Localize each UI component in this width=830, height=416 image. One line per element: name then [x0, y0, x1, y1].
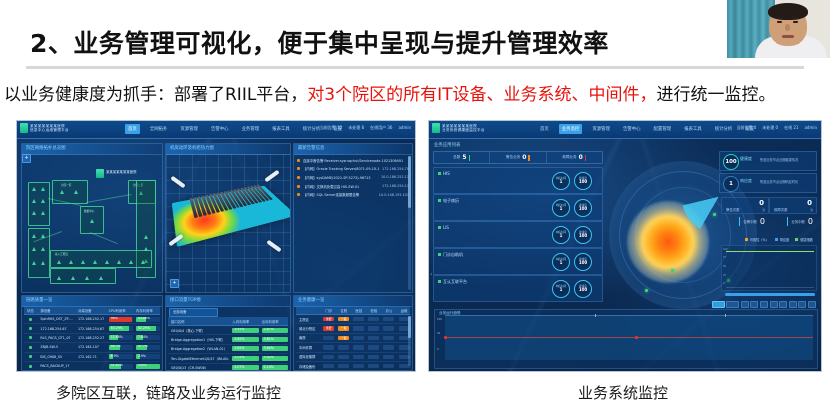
- col-lab: 检验: [365, 308, 380, 313]
- user-account[interactable]: admin: [398, 125, 411, 131]
- device-icon: [117, 260, 121, 264]
- heatmap-zoom-button[interactable]: +: [170, 279, 179, 288]
- cpu-value: 46.3%: [111, 345, 121, 349]
- legend-swatch: [745, 238, 748, 241]
- kpi-label: 告警中断: [743, 219, 757, 224]
- status-pill: [323, 345, 334, 349]
- kpi-value: 0: [760, 217, 765, 226]
- nav-item-analytics[interactable]: 统计分析: [712, 124, 736, 134]
- alarm-severity-icon: [297, 159, 300, 162]
- gauge-value: 1: [560, 288, 563, 292]
- table-row[interactable]: Ten-GigabitEthernet1/0/47（WLAN-05） 2.03%…: [168, 354, 288, 363]
- inbound-bar: 2.82%: [232, 346, 258, 351]
- fault-count-unit: 次: [810, 208, 813, 212]
- nav-item-home[interactable]: 首页: [537, 124, 552, 134]
- alarm-ip: 10.0.148.193.101: [379, 193, 409, 197]
- nav-item-resources[interactable]: 资源管理: [177, 124, 201, 134]
- table-row[interactable]: 存储及备份: [296, 362, 410, 371]
- presenter-webcam-overlay: [727, 0, 830, 58]
- device-icon: [41, 247, 45, 251]
- network-topology-diagram[interactable]: 某某某某某某某医院 分院一区: [22, 154, 162, 292]
- y-tick: 75: [723, 256, 726, 259]
- list-item[interactable]: 【内网】SQL Server连接数超限告警 10.0.148.193.101: [297, 190, 409, 199]
- cell-iface: GE0/0/13（CR-SW06）: [168, 365, 229, 370]
- fault-count-label: 故障次数: [774, 207, 788, 212]
- in-value: 2.62%: [234, 337, 244, 341]
- list-item[interactable]: HIS 响应时间 1 健康度 100: [433, 167, 603, 194]
- table-icon[interactable]: [760, 301, 768, 308]
- alarm-severity-icon: [297, 193, 300, 196]
- mem-usage-bar: 47.7%: [136, 345, 160, 350]
- topology-node-label: 分院一区: [61, 183, 71, 187]
- summary-chips[interactable]: 总数 5 警告业务 0 故障业务 0: [433, 151, 603, 164]
- business-trend-chart[interactable]: 业务运行趋势 100 50 0: [434, 309, 818, 369]
- nav-item-alarms[interactable]: 告警中心: [208, 124, 232, 134]
- series-line-response: [445, 337, 813, 338]
- y-tick: 0: [723, 282, 725, 285]
- table-row[interactable]: GE0/0/13（CR-SW06） 2.07% 2.14%: [168, 364, 288, 371]
- bar-chart-icon[interactable]: [726, 301, 739, 308]
- table-row[interactable]: RLS_PACS_GT1_07 172.168.252.27 12.68% 7.…: [24, 334, 160, 343]
- alarm-interrupt-kpi[interactable]: 告警中断 0: [739, 217, 765, 226]
- mem-usage-bar: 7.84%: [136, 335, 160, 340]
- device-icon: [74, 190, 78, 194]
- status-badge: [29, 355, 32, 358]
- device-icon: [32, 187, 36, 191]
- chip-total-label: 总数: [453, 155, 460, 160]
- table-row[interactable]: GE0/0/4（核心-下联） 3.93% 2.87%: [168, 326, 288, 335]
- alarm-text: 【内网】SQL Server连接数超限告警: [303, 192, 376, 197]
- device-icon: [32, 261, 36, 265]
- chip-warning-label: 警告业务: [506, 155, 520, 160]
- data-point[interactable]: [444, 336, 447, 339]
- table-row[interactable]: 172.168.254.67 172.168.254.67 83.29% 82.…: [24, 324, 160, 333]
- in-value: 2.82%: [234, 346, 244, 350]
- device-icon: [144, 235, 148, 239]
- gauge-value: 100: [579, 261, 587, 265]
- nav-item-business[interactable]: 业务管理: [239, 124, 263, 134]
- list-item[interactable]: 电子病历 响应时间 1 健康度 100: [433, 194, 603, 221]
- device-icon: [105, 260, 109, 264]
- link-quality-panel[interactable]: 链路质量一览 状态 源设备 对端设备 CPU利用率 内存利用率 SpinRHS_…: [21, 295, 163, 371]
- status-pill: [323, 364, 334, 368]
- matrix-scrollbar[interactable]: [408, 316, 411, 366]
- nav-item-reports[interactable]: 报表工具: [269, 124, 293, 134]
- health-gauge[interactable]: 健康度 100: [574, 280, 592, 298]
- device-icon: [32, 211, 36, 215]
- chart-toolbar[interactable]: [712, 301, 816, 308]
- table-row[interactable]: ZNJB-SW-5 172.164.107 46.3% 47.7%: [24, 343, 160, 352]
- right-dashboard-screenshot[interactable]: 某某某某某某某医院业务系统健康度监控平台 首页 业务监控 资源管理 告警中心 配…: [428, 120, 822, 372]
- status-pill: 一般: [338, 336, 349, 340]
- line-chart-icon[interactable]: [741, 301, 749, 308]
- status-pill: [338, 345, 349, 349]
- status-current-alarms: 当前告警 12: [320, 125, 342, 131]
- legend-swatch: [795, 238, 798, 241]
- list-item[interactable]: 互认互联平台 响应时间 1 健康度 100: [433, 275, 603, 302]
- list-item[interactable]: 连接中断告警 Receiver.sysruqchui/Servicenode-1…: [297, 156, 409, 165]
- radar-node-dot[interactable]: [645, 289, 648, 292]
- topology-brand-icon: [96, 169, 104, 178]
- warning-count-box[interactable]: 0 警告次数 次: [721, 197, 769, 214]
- chip-total-value: 5: [462, 154, 466, 161]
- response-gauge[interactable]: 响应时间 1: [552, 172, 570, 190]
- status-pill: [323, 355, 334, 359]
- response-gauge[interactable]: 响应时间 1: [552, 199, 570, 217]
- radar-node-dot[interactable]: [713, 213, 716, 216]
- nav-item-reports[interactable]: 报表工具: [681, 124, 705, 134]
- table-header-row: 状态 源设备 对端设备 CPU利用率 内存利用率: [24, 306, 160, 315]
- system-name: 互认互联平台: [443, 279, 467, 285]
- section-title: 业务应用列表: [434, 142, 460, 148]
- y-tick: 50: [723, 265, 726, 268]
- outbound-bar: 3.64%: [262, 346, 288, 351]
- kpi-label: 业务中断: [791, 219, 805, 224]
- in-value: 2.03%: [234, 356, 244, 360]
- interface-traffic-table[interactable]: 接口名称 入向利用率 出向利用率 GE0/0/4（核心-下联） 3.93% 2.…: [166, 317, 290, 370]
- settings-icon[interactable]: [798, 301, 806, 308]
- severity-indicator: [469, 155, 471, 161]
- alarm-list[interactable]: 连接中断告警 Receiver.sysruqchui/Servicenode-1…: [294, 154, 412, 292]
- status-dot-icon: [438, 172, 441, 175]
- fullscreen-icon[interactable]: [808, 301, 816, 308]
- outbound-bar: 2.14%: [262, 365, 288, 370]
- device-icon: [71, 276, 75, 280]
- nav-item-topology[interactable]: 全网拓扑: [147, 124, 171, 134]
- left-topbar-status[interactable]: 当前告警 12 未处理 8 在线用户 36 admin: [320, 125, 411, 131]
- cpu-value: 96%: [111, 317, 118, 321]
- iface-panel-title: 接口流量TOP榜: [166, 296, 290, 307]
- collapse-left-chevron-icon[interactable]: ‹: [430, 271, 432, 278]
- mem-usage-bar: 2.9%: [136, 354, 160, 359]
- gauge-value: 1: [560, 180, 563, 184]
- col-cpu: CPU利用率: [106, 308, 133, 313]
- col-office: 办公: [380, 308, 395, 313]
- row-label: 南院: [296, 335, 320, 340]
- mem-usage-bar: 100%: [136, 364, 160, 369]
- left-dashboard-screenshot[interactable]: 某某某某某某某医院信息中心运维管理平台 首页 全网拓扑 资源管理 告警中心 业务…: [16, 120, 416, 372]
- chip-fault[interactable]: 故障业务 0: [547, 152, 602, 163]
- cpu-value: 6.9%: [111, 354, 119, 358]
- cpu-usage-bar: 6.9%: [109, 354, 133, 359]
- status-pill: [368, 317, 379, 321]
- status-badge: [29, 336, 32, 339]
- status-pill: [353, 317, 364, 321]
- topology-node-group-1[interactable]: [28, 182, 50, 226]
- interface-traffic-panel[interactable]: 接口流量TOP榜 全部设备 接口名称 入向利用率 出向利用率 GE0/0/4（核…: [165, 295, 291, 371]
- status-pill: 一般: [338, 326, 349, 330]
- inbound-bar: 3.93%: [232, 328, 258, 333]
- status-pill: [353, 364, 364, 368]
- cell-src: SpinRHS_DST_ZP-...: [37, 317, 75, 321]
- pie-chart-icon[interactable]: [750, 301, 758, 308]
- col-mem: 内存利用率: [133, 308, 160, 313]
- legend-item-availability: 可用性（%）: [745, 237, 769, 242]
- alarm-list-scrollbar[interactable]: [408, 156, 411, 290]
- device-icon: [90, 219, 94, 223]
- alarm-ip: 10.0.186.252.11: [381, 175, 409, 179]
- mem-value: 47.7%: [138, 345, 148, 349]
- legend-label: 响应度: [780, 237, 790, 242]
- left-dashboard-topbar: 某某某某某某某医院信息中心运维管理平台 首页 全网拓扑 资源管理 告警中心 业务…: [17, 121, 415, 139]
- mem-value: 7.84%: [138, 335, 148, 339]
- fault-count-value: 0: [807, 199, 812, 207]
- col-dst: 对端设备: [75, 308, 106, 313]
- system-name: HIS: [443, 171, 450, 176]
- response-score-sub: 所选业务节点近期响应时长: [760, 179, 798, 184]
- gauge-value: 100: [579, 180, 587, 184]
- topology-link: [90, 232, 118, 244]
- legend-swatch: [775, 238, 778, 241]
- status-online-users: 在线用户 36: [370, 125, 392, 131]
- kpi-accent-bar: [787, 217, 789, 226]
- chip-total[interactable]: 总数 5: [434, 152, 490, 163]
- nav-item-home[interactable]: 首页: [125, 124, 140, 134]
- status-pill: [383, 326, 394, 330]
- cell-iface: GE0/0/4（核心-下联）: [168, 328, 229, 333]
- response-score-value: 1: [723, 176, 739, 192]
- mem-value: 100%: [138, 364, 147, 368]
- alarm-text: 【内网】Oracle Tracking Server(8071-09-10-10…: [303, 166, 379, 171]
- alarm-ip: 172.168.254.11: [382, 184, 409, 188]
- status-pill: [383, 336, 394, 340]
- list-item[interactable]: 【内网】Oracle Tracking Server(8071-09-10-10…: [297, 165, 409, 174]
- status-pill: [353, 326, 364, 330]
- cell-src: RLS_PACS_GT1_07: [37, 336, 75, 340]
- business-matrix-table[interactable]: 门诊 住院 医技 检验 办公 运维 主院区 重要 一般 城北分院区 重要 一般: [294, 306, 412, 370]
- table-row[interactable]: 城北分院区 重要 一般: [296, 324, 410, 333]
- area-chart-icon[interactable]: [712, 301, 725, 308]
- alarm-severity-icon: [297, 176, 300, 179]
- topology-brand-label: 某某某某某某某医院: [106, 170, 137, 174]
- alarm-text: 【内网】交换机负载过高 HIS-SW-01: [303, 184, 379, 189]
- status-pill: [353, 336, 364, 340]
- inbound-bar: 2.62%: [232, 337, 258, 342]
- legend-item-health: 健康指数: [795, 237, 813, 242]
- presenter-nose: [785, 24, 790, 31]
- filter-icon[interactable]: [770, 301, 778, 308]
- device-icon: [32, 199, 36, 203]
- table-row[interactable]: 南院 一般: [296, 334, 410, 343]
- table-row[interactable]: Bridge-Aggregation1（HIS-下联） 2.62% 3.81%: [168, 335, 288, 344]
- user-account[interactable]: admin: [804, 125, 817, 131]
- alarm-text: 【内网】sysDAME(2021-SP-5273)-96713: [303, 175, 378, 180]
- left-nav[interactable]: 首页 全网拓扑 资源管理 告警中心 业务管理 报表工具 统计分析 设置: [125, 124, 345, 134]
- y-axis-label: 0: [437, 348, 439, 351]
- health-score-sub: 所选业务节点近期健康情况: [760, 157, 798, 162]
- mem-value: 82.29%: [138, 326, 150, 330]
- row-label: 主院区: [296, 317, 320, 322]
- status-pill: [338, 364, 349, 368]
- cell-iface: Bridge-Aggregation2（WLAN-01）: [168, 346, 229, 351]
- row-label: 城北分院区: [296, 326, 320, 331]
- link-quality-table[interactable]: 状态 源设备 对端设备 CPU利用率 内存利用率 SpinRHS_DST_ZP-…: [22, 306, 162, 370]
- cell-src: BIS_G908_SV: [37, 355, 75, 359]
- presenter-eye-right: [793, 21, 798, 23]
- device-icon: [41, 199, 45, 203]
- chart-tick: [725, 314, 726, 317]
- table-row[interactable]: 中间件群: [296, 343, 410, 352]
- topology-endpoints[interactable]: [50, 268, 116, 284]
- cell-iface: Bridge-Aggregation1（HIS-下联）: [168, 337, 229, 342]
- nav-item-resources[interactable]: 资源管理: [589, 124, 613, 134]
- table-row[interactable]: Bridge-Aggregation2（WLAN-01） 2.82% 3.64%: [168, 345, 288, 354]
- out-value: 3.64%: [264, 346, 274, 350]
- outbound-bar: 3.81%: [262, 337, 288, 342]
- status-current-alarms: 当前告警 0: [736, 125, 756, 131]
- health-gauge[interactable]: 健康度 100: [574, 226, 592, 244]
- health-gauge[interactable]: 健康度 100: [574, 172, 592, 190]
- status-pill: [368, 326, 379, 330]
- device-icon: [41, 261, 45, 265]
- business-interrupt-kpi[interactable]: 业务中断 0: [787, 217, 813, 226]
- status-pill: [323, 336, 334, 340]
- legend-label: 健康指数: [800, 237, 813, 242]
- nav-item-business-monitor[interactable]: 业务监控: [559, 124, 583, 134]
- datacenter-3d-heatmap[interactable]: +: [166, 154, 290, 292]
- presenter-mouth: [782, 35, 794, 38]
- chip-warning-value: 0: [522, 154, 526, 161]
- mini-trend-chart[interactable]: 100 75 50 25 0: [721, 245, 817, 291]
- outbound-bar: 3.02%: [262, 356, 288, 361]
- alarm-ip: 172.168.254.70: [382, 167, 409, 171]
- table-header-row: 接口名称 入向利用率 出向利用率: [168, 317, 288, 326]
- alarm-list-panel[interactable]: 最新告警信息 连接中断告警 Receiver.sysruqchui/Servic…: [293, 143, 413, 293]
- response-gauge[interactable]: 响应时间 1: [552, 280, 570, 298]
- body-suffix: 进行统一监控。: [657, 85, 776, 105]
- topology-panel[interactable]: 院区网络拓扑总览图 某某某某某某某医院: [21, 143, 163, 293]
- device-icon: [129, 260, 133, 264]
- chip-warning[interactable]: 警告业务 0: [490, 152, 546, 163]
- cell-dst: 172.168.252.27: [75, 336, 106, 340]
- in-value: 2.07%: [234, 365, 244, 369]
- right-nav[interactable]: 首页 业务监控 资源管理 告警中心 配置管理 报表工具 统计分析 设置: [537, 124, 757, 134]
- mem-value: 43.88%: [138, 317, 150, 321]
- response-gauge[interactable]: 响应时间 1: [552, 226, 570, 244]
- health-gauge[interactable]: 健康度 100: [574, 253, 592, 271]
- system-name: 门诊自助机: [443, 252, 463, 258]
- hospital-logo-icon: [20, 123, 28, 133]
- table-row[interactable]: BIS_G908_SV 172.162.71 6.9% 2.9%: [24, 353, 160, 362]
- table-row[interactable]: 主院区 重要 一般: [296, 315, 410, 324]
- download-icon[interactable]: [789, 301, 797, 308]
- topology-node-datacenter[interactable]: 数据中心: [80, 206, 104, 234]
- device-icon: [99, 276, 103, 280]
- chip-fault-value: 0: [579, 154, 583, 161]
- time-range-slider[interactable]: [725, 293, 815, 296]
- list-item[interactable]: 【内网】交换机负载过高 HIS-SW-01 172.168.254.11: [297, 182, 409, 191]
- device-icon: [81, 260, 85, 264]
- col-src: 源设备: [37, 308, 75, 313]
- warning-count-value: 0: [759, 199, 764, 207]
- mem-value: 2.9%: [138, 354, 146, 358]
- topology-zoom-in-button[interactable]: +: [22, 154, 31, 163]
- right-brand-text: 某某某某某某某医院业务系统健康度监控平台: [442, 124, 485, 133]
- table-row[interactable]: 虚拟化集群: [296, 353, 410, 362]
- iface-filter-select[interactable]: 全部设备: [169, 308, 218, 317]
- topology-access-layer[interactable]: 接入汇聚层: [50, 250, 152, 268]
- alarm-severity-icon: [297, 167, 300, 170]
- health-scorecard[interactable]: 100 健康度 所选业务节点近期健康情况: [719, 151, 817, 171]
- y-axis-label: 100: [437, 318, 442, 321]
- status-pill: [353, 355, 364, 359]
- alarm-text: 连接中断告警 Receiver.sysruqchui/Servicenode-1…: [303, 158, 406, 163]
- mem-usage-bar: 82.29%: [136, 326, 160, 331]
- status-badge: [29, 365, 32, 368]
- table-row[interactable]: PACS_BACKUP_17 51.62% 100%: [24, 362, 160, 371]
- presenter-hair: [768, 3, 808, 20]
- cpu-value: 12.68%: [111, 335, 123, 339]
- gauge-value: 1: [560, 234, 563, 238]
- response-scorecard[interactable]: 1 响应度 所选业务节点近期响应时长: [719, 173, 817, 193]
- out-value: 3.81%: [264, 337, 274, 341]
- response-gauge[interactable]: 响应时间 1: [552, 253, 570, 271]
- status-pill: [368, 345, 379, 349]
- slide-heading: 2、业务管理可视化，便于集中呈现与提升管理效率: [30, 24, 609, 60]
- list-item[interactable]: 门诊自助机 响应时间 1 健康度 100: [433, 248, 603, 275]
- status-online: 在线 21: [784, 125, 798, 131]
- col-status: 状态: [24, 308, 37, 313]
- nav-item-config[interactable]: 配置管理: [651, 124, 675, 134]
- business-matrix-panel[interactable]: 业务健康一览 门诊 住院 医技 检验 办公 运维 主院区 重要 一般: [293, 295, 413, 371]
- refresh-icon[interactable]: [779, 301, 787, 308]
- gauge-value: 100: [579, 207, 587, 211]
- chart-x-axis: [726, 287, 814, 288]
- kpi-accent-bar: [739, 217, 741, 226]
- response-score-label: 响应度: [740, 178, 752, 184]
- nav-item-alarms[interactable]: 告警中心: [620, 124, 644, 134]
- col-outpatient: 门诊: [320, 308, 335, 313]
- status-pill: 一般: [338, 317, 349, 321]
- series-line-health: [726, 251, 814, 252]
- status-badge: [29, 346, 32, 349]
- device-icon: [57, 260, 61, 264]
- col-medtech: 医技: [350, 308, 365, 313]
- fault-count-box[interactable]: 0 故障次数 次: [769, 197, 817, 214]
- device-icon: [32, 234, 36, 238]
- col-out: 出向利用率: [259, 319, 288, 324]
- table-row[interactable]: SpinRHS_DST_ZP-... 172.168.252.17 96% 43…: [24, 315, 160, 324]
- right-caption: 业务系统监控: [578, 382, 668, 403]
- system-name: 电子病历: [443, 198, 459, 204]
- status-pill: [383, 355, 394, 359]
- chart-tick: [595, 314, 596, 317]
- status-pill: [368, 355, 379, 359]
- legend-label: 可用性（%）: [750, 237, 769, 242]
- right-dashboard-topbar: 某某某某某某某医院业务系统健康度监控平台 首页 业务监控 资源管理 告警中心 配…: [429, 121, 821, 139]
- status-pill: 重要: [323, 326, 334, 330]
- device-icon: [93, 260, 97, 264]
- status-pill: [383, 345, 394, 349]
- alarm-severity-icon: [297, 185, 300, 188]
- cpu-usage-bar: 83.29%: [109, 326, 133, 331]
- datacenter-heatmap-panel[interactable]: 机房动环及机柜热力图 +: [165, 143, 291, 293]
- device-icon: [141, 260, 145, 264]
- radar-node-dot[interactable]: [671, 269, 674, 272]
- list-item[interactable]: 【内网】sysDAME(2021-SP-5273)-96713 10.0.186…: [297, 173, 409, 182]
- out-value: 3.02%: [264, 356, 274, 360]
- left-brand-text: 某某某某某某某医院信息中心运维管理平台: [30, 124, 69, 133]
- right-topbar-status[interactable]: 当前告警 0 未处理 0 在线 21 admin: [736, 125, 817, 131]
- chart-legend: 可用性（%） 响应度 健康指数: [745, 237, 813, 242]
- topology-link: [86, 194, 131, 203]
- status-dot-icon: [438, 226, 441, 229]
- cpu-value: 51.62%: [111, 364, 123, 368]
- data-point[interactable]: [635, 336, 638, 339]
- outbound-bar: 2.87%: [262, 328, 288, 333]
- health-gauge[interactable]: 健康度 100: [574, 199, 592, 217]
- list-item[interactable]: LIS 响应时间 1 健康度 100: [433, 221, 603, 248]
